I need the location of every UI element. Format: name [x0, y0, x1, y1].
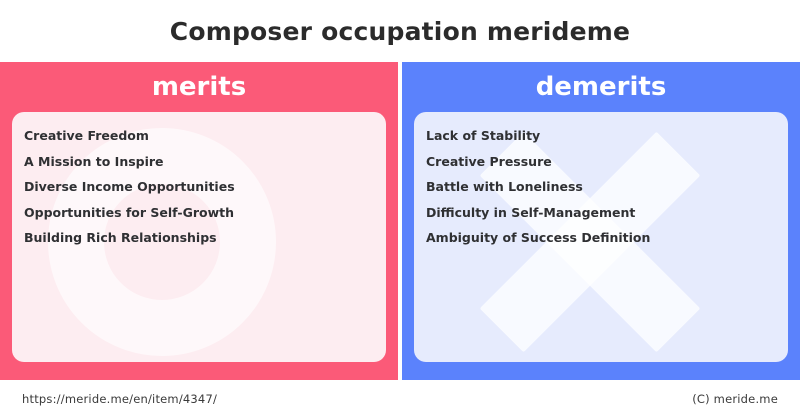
- merits-heading: merits: [0, 62, 398, 112]
- list-item: Ambiguity of Success Definition: [426, 232, 774, 258]
- source-url[interactable]: https://meride.me/en/item/4347/: [22, 392, 217, 406]
- page-title: Composer occupation merideme: [170, 19, 630, 44]
- list-item: Battle with Loneliness: [426, 181, 774, 207]
- list-item: Creative Freedom: [24, 130, 372, 156]
- list-item: Diverse Income Opportunities: [24, 181, 372, 207]
- page-title-bar: Composer occupation merideme: [0, 0, 800, 62]
- list-item: Lack of Stability: [426, 130, 774, 156]
- demerits-list: Lack of Stability Creative Pressure Batt…: [414, 112, 788, 258]
- comparison-columns: merits Creative Freedom A Mission to Ins…: [0, 62, 800, 380]
- list-item: Difficulty in Self-Management: [426, 207, 774, 233]
- list-item: Opportunities for Self-Growth: [24, 207, 372, 233]
- list-item: A Mission to Inspire: [24, 156, 372, 182]
- list-item: Building Rich Relationships: [24, 232, 372, 258]
- demerits-panel: demerits Lack of Stability Creative Pres…: [402, 62, 800, 380]
- copyright-text: (C) meride.me: [692, 392, 778, 406]
- merits-list: Creative Freedom A Mission to Inspire Di…: [12, 112, 386, 258]
- page-footer: https://meride.me/en/item/4347/ (C) meri…: [0, 380, 800, 418]
- demerits-card: Lack of Stability Creative Pressure Batt…: [414, 112, 788, 362]
- merits-card: Creative Freedom A Mission to Inspire Di…: [12, 112, 386, 362]
- infographic-page: Composer occupation merideme merits Crea…: [0, 0, 800, 418]
- merits-panel: merits Creative Freedom A Mission to Ins…: [0, 62, 398, 380]
- demerits-heading: demerits: [402, 62, 800, 112]
- list-item: Creative Pressure: [426, 156, 774, 182]
